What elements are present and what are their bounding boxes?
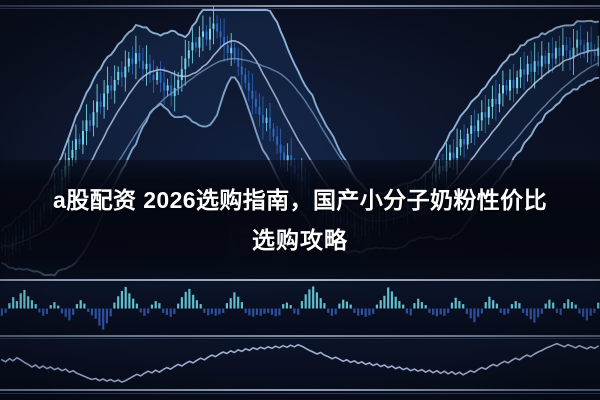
histogram-bar <box>218 309 220 315</box>
bottom-rule <box>0 389 600 391</box>
histogram-bar <box>387 287 389 308</box>
histogram-bar <box>515 301 517 308</box>
top-rule <box>0 5 600 7</box>
histogram-bar <box>35 304 37 308</box>
top-rule-secondary <box>0 8 600 9</box>
histogram-bar <box>511 304 513 308</box>
candle-body <box>135 53 137 64</box>
histogram-bar <box>248 309 250 316</box>
histogram-bar <box>391 291 393 308</box>
histogram-bar <box>68 309 70 321</box>
histogram-bar <box>237 297 239 309</box>
histogram-bar <box>406 309 408 314</box>
histogram-bar <box>241 302 243 308</box>
candle-body <box>555 48 557 59</box>
histogram-bar <box>125 287 127 309</box>
histogram-bar <box>20 293 22 308</box>
histogram-bar <box>361 309 363 315</box>
candle-body <box>184 58 186 69</box>
candle-body <box>569 50 571 58</box>
candle-body <box>96 102 98 113</box>
histogram-bar <box>147 309 149 314</box>
histogram-bar <box>271 309 273 315</box>
candle-body <box>513 80 515 88</box>
candle-body <box>516 77 518 88</box>
histogram-bar <box>245 309 247 313</box>
candle-body <box>562 45 564 56</box>
candle-body <box>280 145 282 153</box>
panel-divider-sub <box>0 335 600 337</box>
histogram-bar <box>402 305 404 309</box>
histogram-bar <box>23 290 25 309</box>
histogram-bar <box>301 301 303 308</box>
candle-body <box>460 139 462 147</box>
candle-body <box>530 64 532 72</box>
histogram-bar <box>128 293 130 308</box>
indicator-panel-bg <box>0 340 600 392</box>
histogram-bar <box>95 309 97 319</box>
candle-body <box>548 53 550 64</box>
histogram-bar <box>376 305 378 309</box>
histogram-bar <box>496 304 498 309</box>
candle-body <box>71 150 73 158</box>
histogram-bar <box>556 309 558 313</box>
candle-body <box>248 83 250 91</box>
histogram-bar <box>541 309 543 314</box>
histogram-bar <box>102 309 104 330</box>
histogram-bar <box>305 294 307 308</box>
candle-body <box>216 24 218 32</box>
histogram-bar <box>312 286 314 308</box>
histogram-bar <box>1 309 3 316</box>
candle-body <box>117 72 119 80</box>
candle-body <box>576 40 578 48</box>
histogram-bar <box>575 305 577 309</box>
candle-body <box>491 99 493 107</box>
histogram-bar <box>571 302 573 308</box>
histogram-bar <box>548 300 550 309</box>
histogram-bar <box>31 300 33 308</box>
candle-body <box>488 107 490 118</box>
histogram-bar <box>151 305 153 309</box>
candle-body <box>103 93 105 106</box>
histogram-bar <box>263 309 265 314</box>
histogram-bar <box>215 309 217 316</box>
candle-body <box>498 93 500 104</box>
histogram-bar <box>27 296 29 308</box>
candle-body <box>110 85 112 90</box>
histogram-bar <box>12 297 14 308</box>
candle-body <box>188 50 190 58</box>
candle-body <box>534 61 536 72</box>
histogram-bar <box>46 309 48 314</box>
candle-body <box>273 128 275 136</box>
candle-body <box>153 75 155 80</box>
histogram-bar <box>518 303 520 308</box>
headline-line-1: a股配资 2026选购指南，国产小分子奶粉性价比 <box>53 180 547 220</box>
histogram-bar <box>526 309 528 316</box>
histogram-bar <box>192 295 194 309</box>
histogram-bar <box>5 309 7 313</box>
candle-body <box>206 32 208 40</box>
histogram-bar <box>398 301 400 308</box>
panel-divider-main <box>0 279 600 281</box>
histogram-bar <box>226 303 228 308</box>
candle-body <box>527 64 529 75</box>
histogram-bar <box>421 302 423 308</box>
candle-body <box>124 67 126 78</box>
bottom-rule-secondary <box>0 393 600 394</box>
histogram-bar <box>297 309 299 315</box>
candle-body <box>269 118 271 129</box>
candle-body <box>163 83 165 91</box>
candle-body <box>495 99 497 104</box>
histogram-bar <box>200 304 202 308</box>
histogram-bar <box>500 309 502 313</box>
histogram-bar <box>443 309 445 316</box>
candle-body <box>121 72 123 77</box>
histogram-bar <box>368 309 370 316</box>
histogram-bar <box>503 309 505 315</box>
histogram-bar <box>428 309 430 313</box>
histogram-bar <box>470 309 472 319</box>
candle-body <box>523 69 525 74</box>
histogram-bar <box>413 303 415 308</box>
histogram-bar <box>267 309 269 313</box>
candle-body <box>520 69 522 77</box>
histogram-bar <box>335 309 337 315</box>
histogram-bar <box>61 309 63 314</box>
histogram-bar <box>57 306 59 309</box>
histogram-bar <box>203 309 205 313</box>
histogram-bar <box>162 309 164 313</box>
histogram-bar <box>16 301 18 308</box>
candle-body <box>502 85 504 93</box>
histogram-bar <box>327 309 329 313</box>
candle-body <box>209 29 211 40</box>
candle-body <box>558 48 560 56</box>
histogram-bar <box>290 305 292 308</box>
histogram-bar <box>155 301 157 308</box>
stock-chart-banner: 图网 a股配资 2026选购指南，国产小分子奶粉性价比 选购攻略 <box>0 0 600 400</box>
histogram-bar <box>462 304 464 308</box>
candle-body <box>262 115 264 123</box>
histogram-bar <box>492 300 494 308</box>
histogram-bar <box>522 309 524 313</box>
histogram-bar <box>185 292 187 309</box>
candle-body <box>128 58 130 66</box>
histogram-bar <box>308 289 310 308</box>
histogram-bar <box>563 303 565 308</box>
histogram-bar <box>170 309 172 317</box>
candle-body <box>220 32 222 37</box>
histogram-bar <box>346 302 348 309</box>
histogram-bar <box>455 298 457 309</box>
candle-body <box>477 120 479 131</box>
candle-body <box>537 61 539 66</box>
candle-body <box>258 107 260 115</box>
histogram-bar <box>383 296 385 309</box>
histogram-bar <box>252 309 254 317</box>
histogram-bar <box>582 309 584 317</box>
histogram-bar <box>560 309 562 315</box>
candle-body <box>255 99 257 107</box>
candle-body <box>107 85 109 93</box>
histogram-bar <box>593 309 595 313</box>
candle-body <box>597 48 599 56</box>
histogram-bar <box>211 309 213 314</box>
histogram-bar <box>42 309 44 316</box>
histogram-bar <box>166 309 168 315</box>
histogram-bar <box>481 309 483 314</box>
candle-body <box>467 134 469 145</box>
histogram-bar <box>158 303 160 308</box>
histogram-bar <box>578 309 580 314</box>
candle-body <box>177 80 179 88</box>
histogram-bar <box>282 304 284 308</box>
candle-body <box>89 120 91 125</box>
histogram-bar <box>440 309 442 315</box>
histogram-bar <box>425 305 427 308</box>
histogram-bar <box>113 303 115 309</box>
candle-body <box>551 53 553 58</box>
histogram-bar <box>80 300 82 308</box>
histogram-bar <box>286 303 288 309</box>
candle-body <box>167 85 169 90</box>
candle-body <box>191 42 193 50</box>
histogram-bar <box>316 292 318 308</box>
candle-body <box>251 91 253 99</box>
histogram-bar <box>38 309 40 313</box>
histogram-bar <box>121 291 123 309</box>
histogram-bar <box>91 309 93 316</box>
candle-body <box>453 153 455 158</box>
candle-body <box>100 102 102 107</box>
histogram-bar <box>357 309 359 316</box>
histogram-bar <box>207 309 209 316</box>
histogram-bar <box>65 309 67 317</box>
candle-body <box>590 42 592 50</box>
histogram-bar <box>293 309 295 314</box>
histogram-bar <box>477 309 479 317</box>
histogram-bar <box>181 297 183 308</box>
histogram-bar <box>380 300 382 308</box>
histogram-bar <box>173 309 175 314</box>
histogram-bar <box>110 309 112 317</box>
histogram-bar <box>230 298 232 308</box>
candle-body <box>463 139 465 144</box>
histogram-bar <box>485 302 487 308</box>
headline-overlay: a股配资 2026选购指南，国产小分子奶粉性价比 选购攻略 <box>0 160 600 280</box>
candle-body <box>160 72 162 83</box>
candle-body <box>506 85 508 90</box>
histogram-bar <box>410 309 412 316</box>
candle-body <box>541 56 543 67</box>
histogram-bar <box>432 309 434 315</box>
histogram-bar <box>545 304 547 309</box>
panel-divider-sub-secondary <box>0 338 600 339</box>
histogram-bar <box>222 309 224 313</box>
candle-body <box>227 45 229 53</box>
histogram-bar <box>117 296 119 308</box>
candle-body <box>138 53 140 61</box>
histogram-bar <box>177 304 179 309</box>
histogram-bar <box>458 301 460 308</box>
candle-body <box>481 112 483 120</box>
histogram-bar <box>196 300 198 308</box>
candle-body <box>82 131 84 145</box>
histogram-bar <box>365 309 367 317</box>
histogram-bar <box>323 303 325 308</box>
histogram-bar <box>72 309 74 315</box>
histogram-bar <box>552 303 554 309</box>
histogram-bar <box>8 303 10 308</box>
histogram-bar <box>372 309 374 314</box>
candle-body <box>266 118 268 123</box>
histogram-bar <box>53 302 55 308</box>
histogram-bar <box>140 309 142 313</box>
candle-body <box>566 45 568 50</box>
histogram-bar <box>87 309 89 312</box>
candle-body <box>131 58 133 63</box>
candle-body <box>456 147 458 158</box>
candle-body <box>114 80 116 91</box>
candle-body <box>580 40 582 45</box>
candle-body <box>213 24 215 29</box>
histogram-panel-bg <box>0 283 600 335</box>
histogram-bar <box>320 298 322 308</box>
histogram-bar <box>417 299 419 309</box>
histogram-bar <box>533 309 535 323</box>
candle-body <box>156 72 158 80</box>
candle-body <box>230 48 232 53</box>
histogram-bar <box>567 299 569 308</box>
histogram-bar <box>188 289 190 309</box>
histogram-bar <box>76 304 78 308</box>
histogram-bar <box>590 309 592 316</box>
histogram-bar <box>98 309 100 326</box>
histogram-bar <box>342 300 344 309</box>
candle-body <box>276 136 278 144</box>
histogram-bar <box>436 309 438 317</box>
histogram-bar <box>338 304 340 309</box>
histogram-bar <box>143 309 145 316</box>
histogram-bar <box>136 304 138 309</box>
histogram-bar <box>466 309 468 314</box>
headline-line-2: 选购攻略 <box>252 220 348 260</box>
histogram-bar <box>260 309 262 316</box>
histogram-bar <box>331 309 333 316</box>
histogram-bar <box>350 305 352 309</box>
candle-body <box>198 37 200 48</box>
histogram-bar <box>278 309 280 316</box>
candle-body <box>146 64 148 69</box>
candle-body <box>93 112 95 126</box>
histogram-bar <box>447 309 449 313</box>
histogram-bar <box>507 309 509 314</box>
candle-body <box>474 126 476 131</box>
histogram-bar <box>473 309 475 323</box>
histogram-bar <box>395 297 397 309</box>
histogram-bar <box>275 309 277 317</box>
histogram-bar <box>537 309 539 318</box>
histogram-bar <box>50 305 52 308</box>
candle-body <box>78 139 80 144</box>
candle-body <box>202 32 204 37</box>
candle-body <box>195 42 197 47</box>
histogram-bar <box>256 309 258 315</box>
candle-body <box>244 75 246 83</box>
histogram-bar <box>530 309 532 320</box>
candle-body <box>234 48 236 59</box>
candle-body <box>241 67 243 75</box>
histogram-bar <box>353 309 355 313</box>
histogram-bar <box>132 299 134 309</box>
candle-body <box>594 50 596 55</box>
candle-body <box>484 112 486 117</box>
histogram-bar <box>586 309 588 321</box>
histogram-bar <box>597 303 599 309</box>
histogram-bar <box>83 304 85 309</box>
histogram-bar <box>233 292 235 308</box>
histogram-bar <box>451 303 453 309</box>
histogram-bar <box>488 297 490 309</box>
candle-body <box>142 61 144 69</box>
candle-body <box>181 69 183 80</box>
candle-body <box>509 80 511 91</box>
candle-body <box>544 56 546 64</box>
candle-body <box>75 139 77 150</box>
candle-body <box>86 120 88 131</box>
histogram-bar <box>106 309 108 324</box>
candle-body <box>470 126 472 134</box>
